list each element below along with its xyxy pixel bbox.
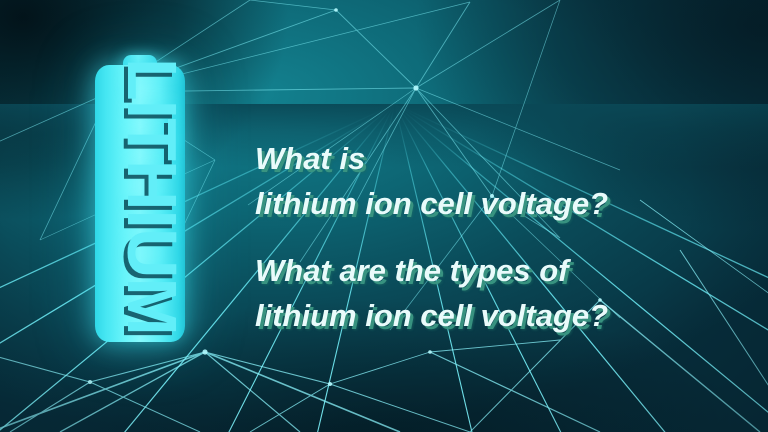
question-one: What is lithium ion cell voltage? [255,136,725,226]
headline-block: What is lithium ion cell voltage? What a… [255,136,725,338]
question-one-line-1: What is [255,136,725,181]
question-one-line-2: lithium ion cell voltage? [255,181,725,226]
lithium-vertical-title: LITHIUM [119,58,185,358]
slide-canvas: LITHIUM What is lithium ion cell voltage… [0,0,768,432]
question-two-line-2: lithium ion cell voltage? [255,293,725,338]
question-two-line-1: What are the types of [255,248,725,293]
question-two: What are the types of lithium ion cell v… [255,248,725,338]
